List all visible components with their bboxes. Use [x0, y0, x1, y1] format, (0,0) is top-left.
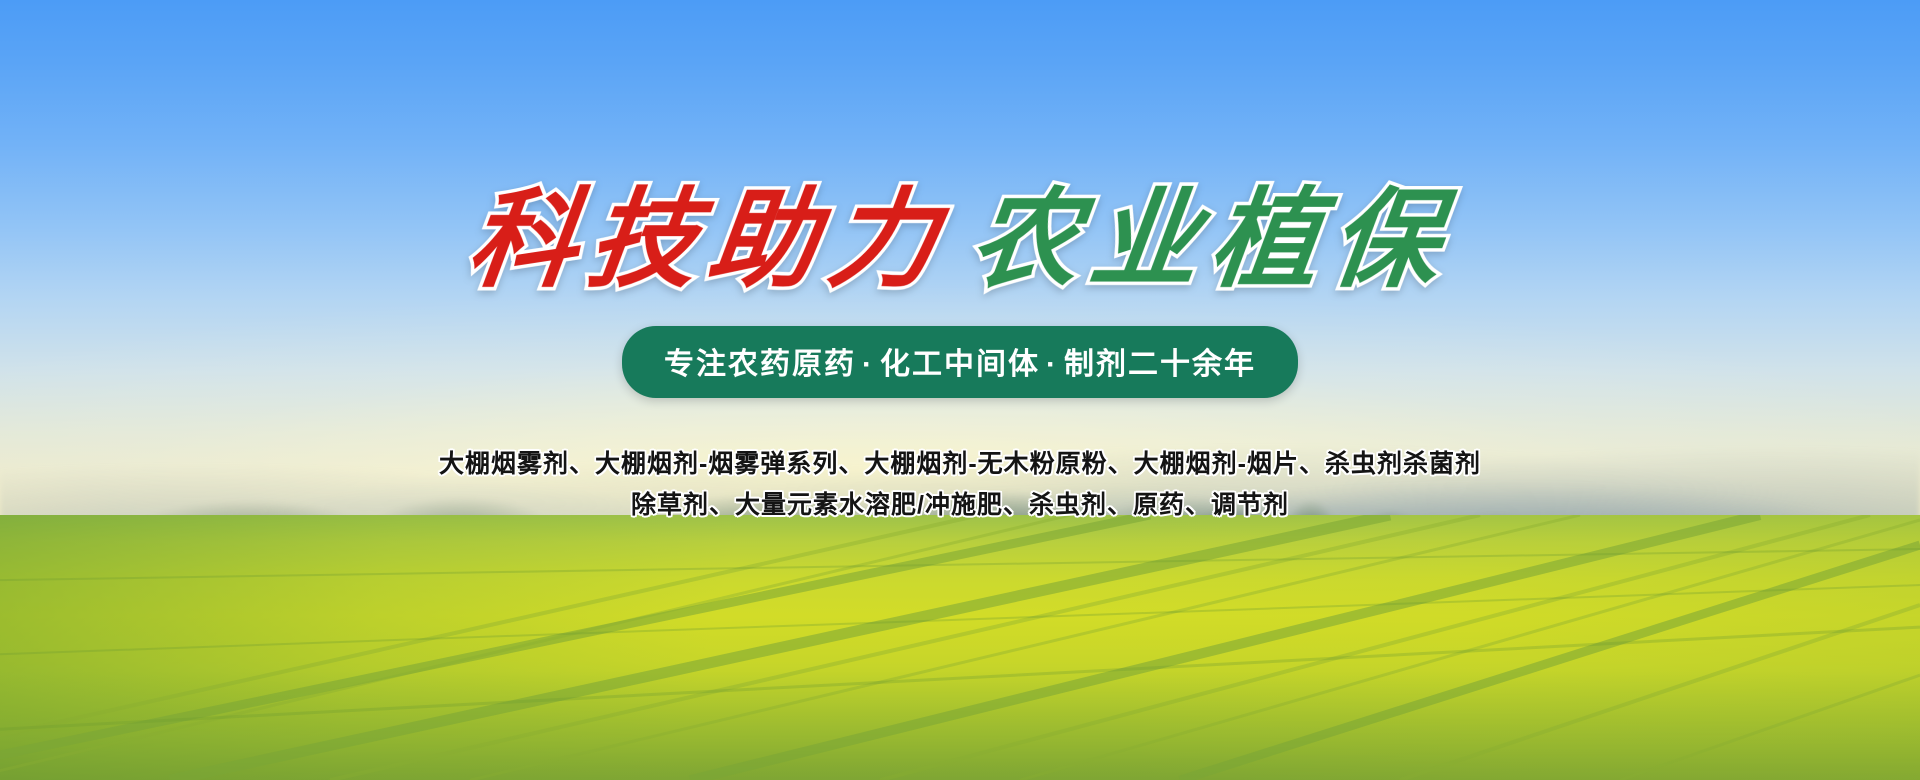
tagline-text-2: 化工中间体 [880, 348, 1040, 381]
product-list-line-1: 大棚烟雾剂、大棚烟剂-烟雾弹系列、大棚烟剂-无木粉原粉、大棚烟剂-烟片、杀虫剂杀… [439, 444, 1481, 485]
hero-banner: 科技助力农业植保 专注农药原药·化工中间体·制剂二十余年 大棚烟雾剂、大棚烟剂-… [0, 0, 1920, 780]
tagline-text-1: 专注农药原药 [664, 348, 856, 381]
product-list-line-2: 除草剂、大量元素水溶肥/冲施肥、杀虫剂、原药、调节剂 [439, 485, 1481, 526]
banner-headline: 科技助力农业植保 [462, 188, 1457, 296]
tagline-separator-1: · [856, 348, 880, 381]
tagline-badge: 专注农药原药·化工中间体·制剂二十余年 [622, 326, 1298, 398]
product-category-list: 大棚烟雾剂、大棚烟剂-烟雾弹系列、大棚烟剂-无木粉原粉、大棚烟剂-烟片、杀虫剂杀… [439, 444, 1481, 525]
banner-content: 科技助力农业植保 专注农药原药·化工中间体·制剂二十余年 大棚烟雾剂、大棚烟剂-… [0, 0, 1920, 780]
headline-part-red: 科技助力 [462, 188, 955, 296]
headline-part-green: 农业植保 [964, 188, 1457, 296]
tagline-separator-2: · [1040, 348, 1064, 381]
tagline-text-3: 制剂二十余年 [1064, 348, 1256, 381]
